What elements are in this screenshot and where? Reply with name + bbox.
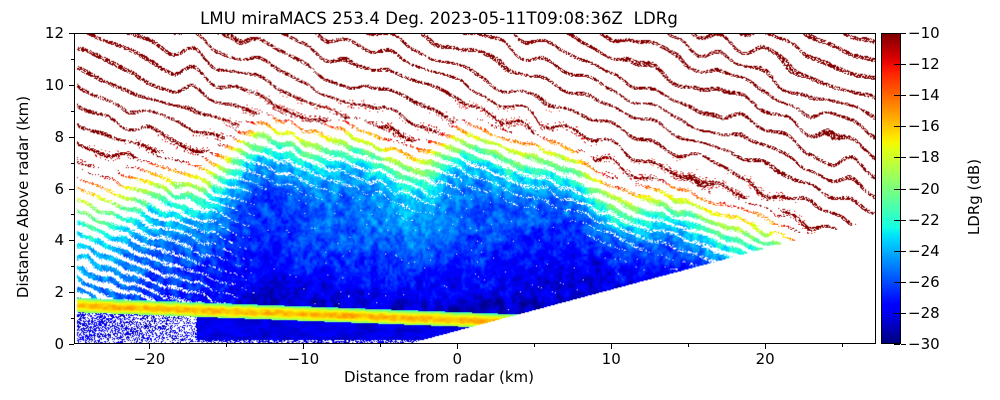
y-tick-mark [69, 344, 74, 345]
y-tick-label: 2 [54, 283, 64, 301]
y-minor-tick [71, 266, 74, 267]
colorbar-tick-mark [901, 157, 906, 158]
y-tick-mark [69, 137, 74, 138]
x-minor-tick [688, 344, 689, 347]
x-minor-tick [534, 344, 535, 347]
colorbar-tick-label: −10 [908, 24, 940, 42]
colorbar-tick-label: −28 [908, 304, 940, 322]
x-tick-label: 10 [602, 350, 621, 368]
y-minor-tick [71, 59, 74, 60]
colorbar-tick-label: −14 [908, 86, 940, 104]
colorbar-tick-label: −16 [908, 117, 940, 135]
y-tick-mark [69, 33, 74, 34]
x-tick-label: −20 [134, 350, 166, 368]
colorbar-tick-mark [901, 126, 906, 127]
colorbar-inner-tick [894, 220, 900, 221]
colorbar-tick-mark [901, 282, 906, 283]
y-minor-tick [71, 214, 74, 215]
y-tick-label: 0 [54, 335, 64, 353]
colorbar-label: LDRg (dB) [965, 87, 983, 307]
x-tick-label: 0 [453, 350, 463, 368]
colorbar-inner-tick [894, 344, 900, 345]
colorbar-tick-label: −24 [908, 242, 940, 260]
y-tick-mark [69, 85, 74, 86]
colorbar-tick-label: −26 [908, 273, 940, 291]
figure: LMU miraMACS 253.4 Deg. 2023-05-11T09:08… [0, 0, 1000, 400]
colorbar-inner-tick [894, 157, 900, 158]
colorbar-tick-mark [901, 251, 906, 252]
y-minor-tick [71, 163, 74, 164]
chart-title: LMU miraMACS 253.4 Deg. 2023-05-11T09:08… [0, 9, 878, 28]
colorbar-tick-mark [901, 189, 906, 190]
x-tick-label: 20 [756, 350, 775, 368]
colorbar-inner-tick [894, 126, 900, 127]
colorbar-inner-tick [894, 189, 900, 190]
colorbar-inner-tick [894, 282, 900, 283]
colorbar-tick-mark [901, 33, 906, 34]
colorbar-tick-mark [901, 95, 906, 96]
colorbar-inner-tick [894, 33, 900, 34]
colorbar-inner-tick [894, 313, 900, 314]
radar-heatmap-canvas [75, 34, 875, 343]
colorbar-tick-mark [901, 220, 906, 221]
x-tick-mark [765, 344, 766, 349]
y-tick-mark [69, 240, 74, 241]
y-minor-tick [71, 111, 74, 112]
x-minor-tick [226, 344, 227, 347]
colorbar-tick-label: −30 [908, 335, 940, 353]
y-axis-label: Distance Above radar (km) [14, 67, 32, 327]
x-minor-tick [842, 344, 843, 347]
y-tick-label: 8 [54, 128, 64, 146]
colorbar-tick-label: −18 [908, 148, 940, 166]
colorbar-inner-tick [894, 95, 900, 96]
colorbar-tick-mark [901, 344, 906, 345]
y-tick-label: 12 [45, 24, 64, 42]
colorbar-tick-label: −22 [908, 211, 940, 229]
x-axis-label: Distance from radar (km) [0, 368, 878, 386]
colorbar-tick-mark [901, 64, 906, 65]
plot-area [74, 33, 876, 344]
y-tick-label: 4 [54, 231, 64, 249]
colorbar-tick-label: −20 [908, 180, 940, 198]
x-tick-mark [149, 344, 150, 349]
x-minor-tick [380, 344, 381, 347]
x-tick-label: −10 [288, 350, 320, 368]
colorbar-tick-mark [901, 313, 906, 314]
y-tick-label: 6 [54, 180, 64, 198]
colorbar-inner-tick [894, 64, 900, 65]
y-tick-mark [69, 189, 74, 190]
y-tick-mark [69, 292, 74, 293]
y-minor-tick [71, 318, 74, 319]
colorbar-inner-tick [894, 251, 900, 252]
y-tick-label: 10 [45, 76, 64, 94]
x-tick-mark [611, 344, 612, 349]
colorbar-tick-label: −12 [908, 55, 940, 73]
x-tick-mark [457, 344, 458, 349]
x-tick-mark [303, 344, 304, 349]
